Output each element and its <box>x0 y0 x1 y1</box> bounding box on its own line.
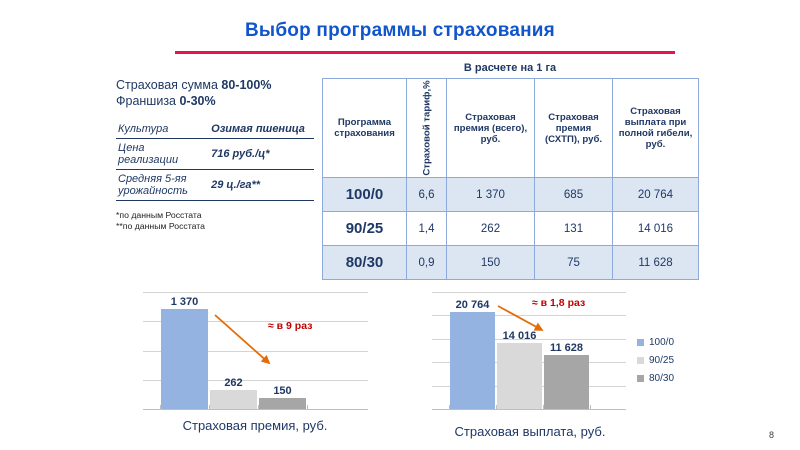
cell-tariff: 0,9 <box>407 246 447 280</box>
cell-premium-sxtp: 685 <box>535 178 613 212</box>
cell-program: 90/25 <box>323 212 407 246</box>
cell-premium-total: 150 <box>447 246 535 280</box>
franchise-value: 0-30% <box>179 94 215 108</box>
table-row: 90/25 1,4 262 131 14 016 <box>323 212 699 246</box>
cell-premium-sxtp: 75 <box>535 246 613 280</box>
chart-1-axis-title: Страховая выплата, руб. <box>405 424 655 439</box>
legend-swatch-icon <box>637 375 644 382</box>
trend-arrow-icon <box>432 293 626 410</box>
payout-bar-chart: 20 76414 01611 628≈ в 1,8 раз <box>432 293 626 410</box>
cell-program: 80/30 <box>323 246 407 280</box>
insured-sum-label: Страховая сумма <box>116 78 221 92</box>
legend-label: 80/30 <box>649 373 674 384</box>
param-name: Культура <box>116 120 201 139</box>
table-caption: В расчете на 1 га <box>322 62 698 74</box>
column-header-program: Программа страхования <box>323 79 407 178</box>
cell-payout: 14 016 <box>613 212 699 246</box>
column-header-premium-sxtp: Страховая премия (СХТП), руб. <box>535 79 613 178</box>
cell-payout: 20 764 <box>613 178 699 212</box>
franchise-label: Франшиза <box>116 94 179 108</box>
title-divider <box>175 51 675 54</box>
page-number: 8 <box>769 430 774 440</box>
insurance-programs-table: Программа страхования Страховой тариф,% … <box>322 78 699 280</box>
param-value: 29 ц./га** <box>201 170 314 201</box>
column-header-premium-total: Страховая премия (всего), руб. <box>447 79 535 178</box>
legend-swatch-icon <box>637 357 644 364</box>
legend-item-80/30[interactable]: 80/30 <box>637 373 674 384</box>
footnote-1: *по данным Росстата <box>116 210 316 221</box>
premium-bar-chart: 1 370262150≈ в 9 раз <box>143 293 368 410</box>
cell-program: 100/0 <box>323 178 407 212</box>
cell-premium-total: 1 370 <box>447 178 535 212</box>
cell-tariff: 6,6 <box>407 178 447 212</box>
insurance-parameters-block: Страховая сумма 80-100% Франшиза 0-30% К… <box>116 77 316 232</box>
cell-premium-total: 262 <box>447 212 535 246</box>
crop-parameters-table: Культура Озимая пшеница Цена реализации … <box>116 120 314 201</box>
table-row: 80/30 0,9 150 75 11 628 <box>323 246 699 280</box>
plot-area: 20 76414 01611 628≈ в 1,8 раз <box>432 293 626 410</box>
param-value: Озимая пшеница <box>201 120 314 139</box>
table-header-row: Программа страхования Страховой тариф,% … <box>323 79 699 178</box>
footnote-2: **по данным Росстата <box>116 221 316 232</box>
cell-tariff: 1,4 <box>407 212 447 246</box>
column-header-tariff-text: Страховой тариф,% <box>421 80 432 175</box>
table-row: 100/0 6,6 1 370 685 20 764 <box>323 178 699 212</box>
legend-label: 90/25 <box>649 355 674 366</box>
slide-canvas: Выбор программы страхования Страховая су… <box>0 0 800 450</box>
table-row: Культура Озимая пшеница <box>116 120 314 139</box>
trend-arrow-icon <box>143 293 368 410</box>
table-row: Цена реализации 716 руб./ц* <box>116 139 314 170</box>
footnotes: *по данным Росстата **по данным Росстата <box>116 210 316 232</box>
column-header-payout: Страховая выплата при полной гибели, руб… <box>613 79 699 178</box>
plot-area: 1 370262150≈ в 9 раз <box>143 293 368 410</box>
param-value: 716 руб./ц* <box>201 139 314 170</box>
payout-chart-legend: 100/090/2580/30 <box>637 337 674 391</box>
insured-sum-line: Страховая сумма 80-100% <box>116 77 316 93</box>
legend-swatch-icon <box>637 339 644 346</box>
page-title: Выбор программы страхования <box>0 20 800 42</box>
column-header-tariff: Страховой тариф,% <box>407 79 447 178</box>
param-name: Средняя 5-яя урожайность <box>116 170 201 201</box>
cell-premium-sxtp: 131 <box>535 212 613 246</box>
param-name: Цена реализации <box>116 139 201 170</box>
legend-item-100/0[interactable]: 100/0 <box>637 337 674 348</box>
legend-item-90/25[interactable]: 90/25 <box>637 355 674 366</box>
table-row: Средняя 5-яя урожайность 29 ц./га** <box>116 170 314 201</box>
chart-0-axis-title: Страховая премия, руб. <box>120 418 390 433</box>
insured-sum-value: 80-100% <box>221 78 271 92</box>
franchise-line: Франшиза 0-30% <box>116 93 316 109</box>
legend-label: 100/0 <box>649 337 674 348</box>
cell-payout: 11 628 <box>613 246 699 280</box>
